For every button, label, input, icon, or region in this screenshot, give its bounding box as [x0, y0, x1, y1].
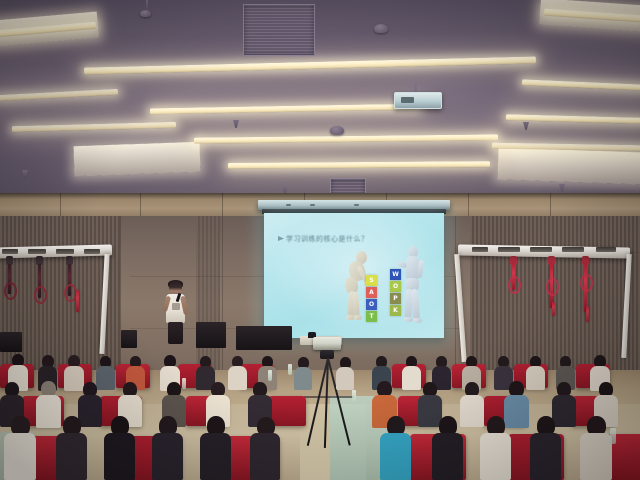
water-bottle [182, 378, 186, 389]
slide-block: K [390, 305, 401, 316]
stage-equipment-table [196, 322, 226, 348]
photograph-scene: 学习训练的核心是什么？ S A [0, 0, 640, 480]
presenter-legs [168, 322, 183, 344]
slide-block: W [390, 269, 401, 280]
suspension-training-frame-right [452, 244, 640, 366]
frame-slot [562, 247, 584, 252]
frame-slot [530, 247, 552, 252]
band-shadow [0, 193, 640, 199]
slide-block-stack-right: W O P K [390, 269, 401, 317]
light-panel [497, 147, 640, 184]
frame-slot [472, 247, 488, 252]
frame-slot [28, 249, 46, 254]
frame-slot [84, 249, 100, 254]
water-bottle [610, 428, 616, 444]
strap-loop [34, 286, 47, 304]
slide-block: T [366, 311, 377, 322]
strap-loop [580, 274, 593, 292]
smoke-detector-icon [330, 126, 344, 135]
slide-title: 学习训练的核心是什么？ [286, 234, 426, 244]
strap-loop [508, 276, 521, 294]
presenter [160, 281, 190, 343]
slide-block: A [366, 287, 377, 298]
frame-leg [621, 254, 631, 358]
suspension-strap [76, 290, 79, 312]
smoke-detector-icon [374, 24, 388, 33]
audience-row-front [0, 416, 640, 480]
ceiling [0, 0, 640, 196]
stage-equipment-box [0, 332, 22, 352]
frame-leg [454, 254, 467, 362]
stage-equipment-box [121, 330, 137, 348]
slide-block-stack-left: S A O T [366, 275, 377, 323]
frame-slot [56, 249, 74, 254]
light-panel [74, 142, 201, 176]
strap-loop [4, 282, 17, 300]
projection-screen: 学习训练的核心是什么？ S A [264, 213, 444, 338]
ceiling-fixture-icon [140, 10, 151, 17]
slide-block: P [390, 293, 401, 304]
frame-slot [498, 247, 520, 252]
strap-loop [546, 278, 559, 296]
slide-block: S [366, 275, 377, 286]
projector [394, 92, 442, 109]
suspension-strap [586, 306, 589, 322]
slide-block: O [390, 281, 401, 292]
presenter-shirt-print [172, 303, 180, 310]
ceiling-air-vent [243, 4, 315, 56]
water-bottle [288, 364, 292, 375]
slide-figure-bending [342, 251, 384, 331]
water-bottle [352, 390, 356, 401]
frame-leg [99, 254, 109, 354]
frame-slot [596, 247, 616, 252]
stage-equipment-table [236, 326, 292, 350]
slide-block: O [366, 299, 377, 310]
video-camera [313, 337, 341, 350]
water-bottle [268, 370, 272, 381]
suspension-strap [552, 302, 555, 316]
frame-slot [2, 249, 18, 254]
